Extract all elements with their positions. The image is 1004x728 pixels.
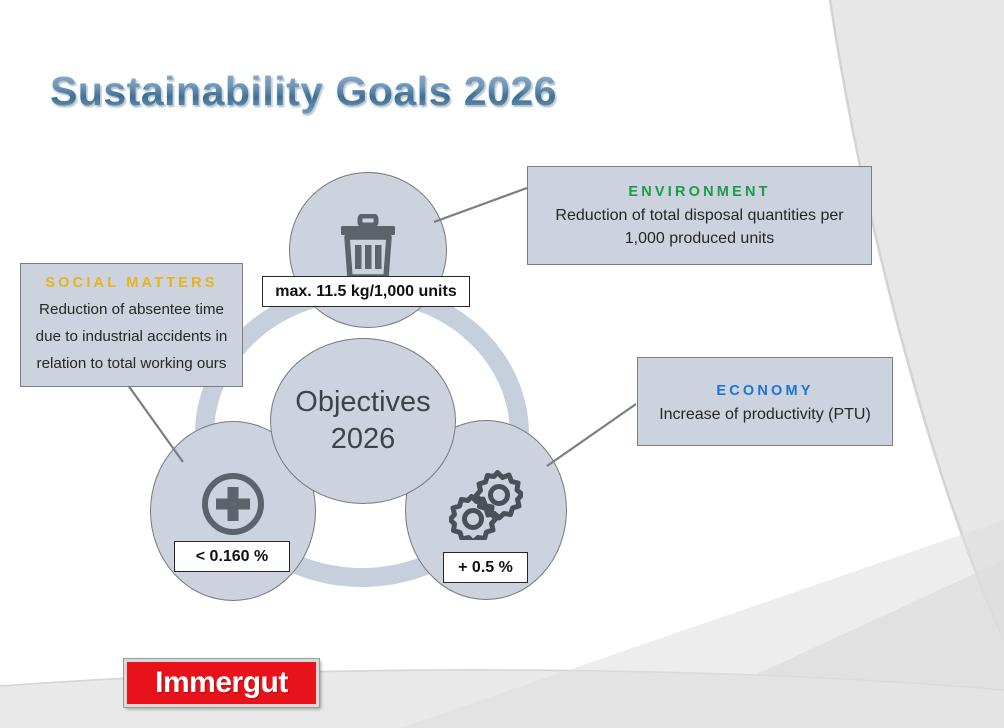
plus-circle-icon — [200, 471, 266, 537]
page-title: Sustainability Goals 2026 — [50, 68, 557, 115]
decor-ellipse-right — [830, 0, 1004, 640]
center-label-line2: 2026 — [331, 421, 396, 458]
decor-ellipse-right-edge — [830, 0, 1004, 640]
value-badge-environment: max. 11.5 kg/1,000 units — [262, 276, 470, 307]
info-body-economy: Increase of productivity (PTU) — [650, 404, 880, 427]
info-body-social-matters: Reduction of absentee time due to indust… — [33, 296, 230, 377]
info-box-social-matters[interactable]: SOCIAL MATTERS Reduction of absentee tim… — [20, 263, 243, 387]
trash-bin-icon — [337, 214, 399, 280]
gears-icon — [449, 468, 523, 540]
info-heading-social-matters: SOCIAL MATTERS — [33, 275, 230, 291]
connector-environment — [434, 188, 527, 222]
node-center-objectives[interactable]: Objectives 2026 — [270, 338, 456, 504]
center-label-line1: Objectives — [295, 384, 430, 421]
info-heading-economy: ECONOMY — [650, 383, 880, 399]
immergut-logo[interactable]: Immergut — [124, 659, 319, 707]
value-badge-economy: + 0.5 % — [443, 552, 528, 583]
info-body-environment: Reduction of total disposal quantities p… — [540, 205, 859, 250]
info-box-economy[interactable]: ECONOMY Increase of productivity (PTU) — [637, 357, 893, 446]
value-badge-social-matters: < 0.160 % — [174, 541, 290, 572]
immergut-logo-text: Immergut — [155, 666, 288, 700]
info-box-environment[interactable]: ENVIRONMENT Reduction of total disposal … — [527, 166, 872, 265]
slide-canvas: Sustainability Goals 2026 Sustainability… — [0, 0, 1004, 728]
connector-economy — [547, 404, 636, 466]
info-heading-environment: ENVIRONMENT — [540, 184, 859, 200]
decor-wedge-bottom-right — [640, 560, 1004, 728]
